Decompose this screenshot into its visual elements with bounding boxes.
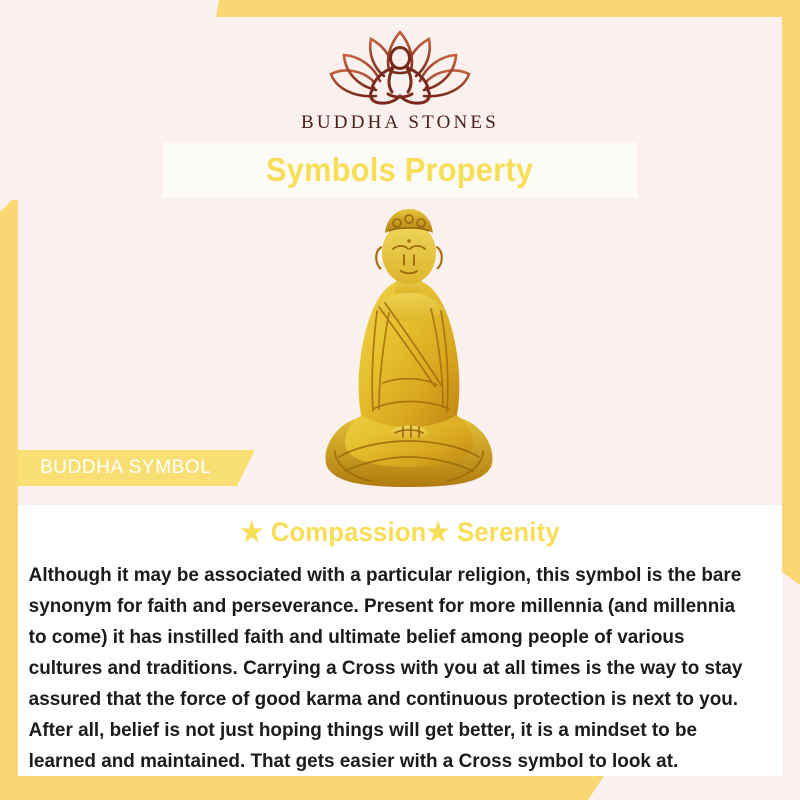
brand-header: BUDDHA STONES — [0, 24, 800, 134]
title-banner: Symbols Property — [163, 142, 637, 198]
ribbon-label: BUDDHA SYMBOL — [18, 457, 211, 479]
brand-wordmark: BUDDHA STONES — [0, 112, 800, 134]
buddha-artwork — [311, 205, 507, 490]
buddha-symbol-ribbon: BUDDHA SYMBOL — [18, 450, 255, 486]
poster-root: BUDDHA STONES Symbols Property — [0, 0, 800, 800]
decorative-top-bar — [216, 0, 800, 17]
seated-buddha-statue-icon — [311, 205, 507, 490]
content-paragraph: Although it may be associated with a par… — [18, 548, 759, 777]
lotus-meditation-icon — [314, 24, 486, 106]
content-panel: ★ Compassion★ Serenity Although it may b… — [18, 505, 782, 776]
page-title: Symbols Property — [266, 151, 533, 189]
content-subtitle: ★ Compassion★ Serenity — [37, 505, 763, 548]
decorative-bottom-bar — [0, 776, 604, 800]
decorative-left-bar — [0, 200, 18, 777]
